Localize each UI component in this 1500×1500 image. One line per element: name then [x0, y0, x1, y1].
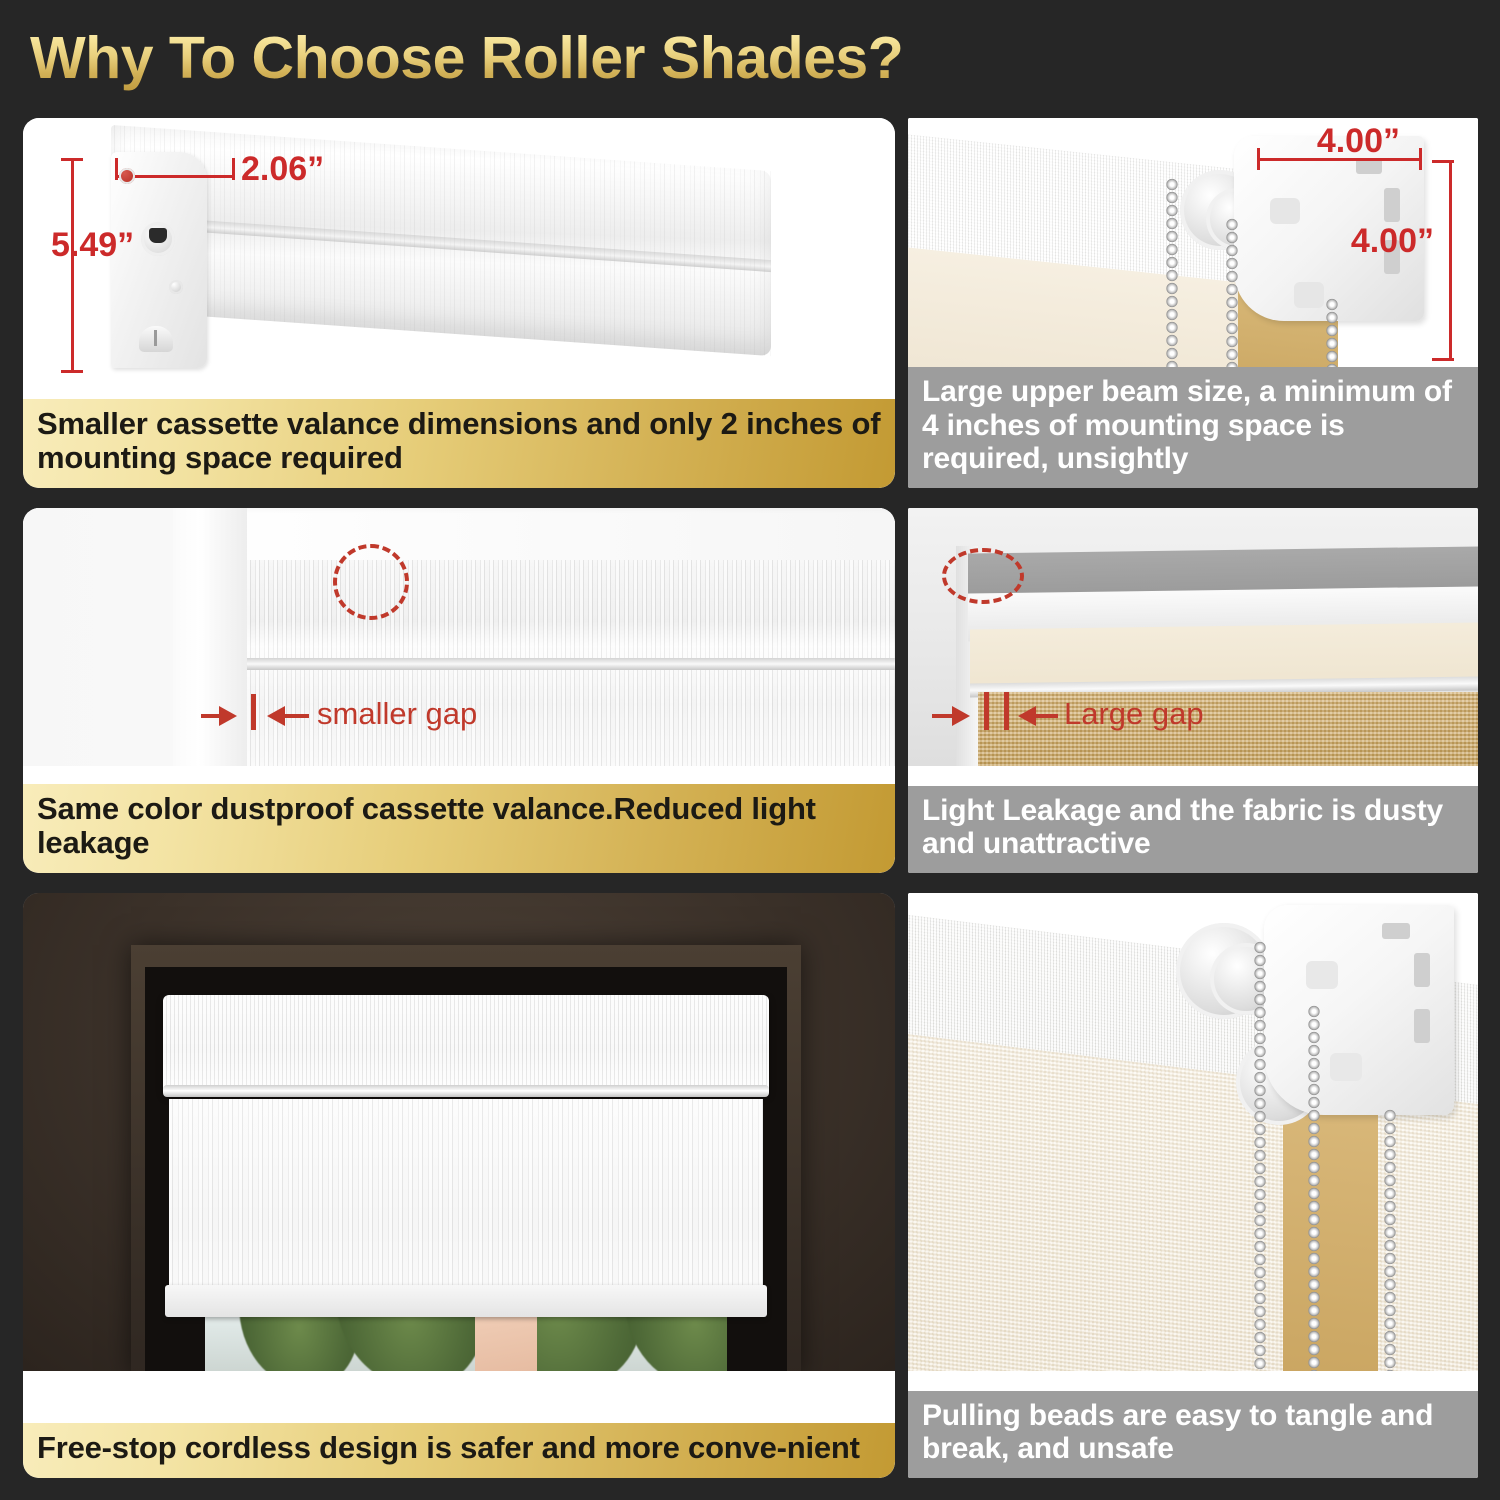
panel-1-artwork: 2.06” — [23, 118, 895, 388]
page-title: Why To Choose Roller Shades? — [30, 24, 903, 92]
gap-marker-bar-2 — [1004, 692, 1009, 730]
cassette-head-box — [163, 995, 769, 1095]
panel-2-caption: Large upper beam size, a minimum of 4 in… — [908, 367, 1478, 488]
mounting-bracket — [1264, 905, 1454, 1115]
shade-fabric-drop — [169, 1099, 763, 1309]
bracket-emboss-1 — [1270, 198, 1300, 224]
gap-arrow-left-icon — [267, 706, 285, 726]
bracket-emboss-1 — [1306, 961, 1338, 989]
width-dim-tick-right — [232, 158, 235, 180]
bracket-slot-2 — [1414, 953, 1430, 987]
panel-4-artwork: Large gap — [908, 508, 1478, 766]
gap-arrow-tail-right — [1036, 714, 1058, 718]
panel-3-artwork: smaller gap — [23, 508, 895, 766]
highlight-circle-icon — [942, 548, 1024, 604]
beam-height-tick-bottom — [1432, 358, 1454, 361]
panel-6-artwork — [908, 893, 1478, 1371]
annotation-large-gap: Large gap — [1064, 696, 1204, 732]
cap-knob-icon — [139, 326, 173, 352]
cassette-texture — [111, 125, 771, 356]
bracket-emboss-2 — [1294, 282, 1324, 308]
bracket-slot-3 — [1414, 1009, 1430, 1043]
panel-4-caption: Light Leakage and the fabric is dusty an… — [908, 786, 1478, 873]
annotation-smaller-gap: smaller gap — [317, 696, 477, 732]
width-dim-dot — [119, 168, 135, 184]
width-dim-tick-left — [115, 158, 118, 180]
height-dim-tick-top — [61, 158, 83, 161]
cassette-valance-body — [111, 125, 771, 356]
panel-large-beam-dimensions: 4.00” 4.00” Large upper beam size, a min… — [908, 118, 1478, 488]
cap-screw-icon — [169, 280, 183, 294]
tan-backing-fabric — [1283, 1087, 1378, 1371]
panel-large-gap: Large gap Light Leakage and the fabric i… — [908, 508, 1478, 873]
bead-chain-3 — [1384, 1109, 1396, 1371]
bracket-slot-2 — [1384, 188, 1400, 222]
bead-chain-left — [1166, 178, 1178, 398]
beam-width-tick-right — [1419, 148, 1422, 170]
annotation-width-2-06: 2.06” — [241, 150, 324, 189]
gap-arrow-tail-left — [201, 714, 223, 718]
bead-chain-2 — [1308, 1005, 1320, 1371]
annotation-height-5-49: 5.49” — [51, 226, 134, 265]
panel-pulling-beads: Pulling beads are easy to tangle and bre… — [908, 893, 1478, 1478]
cassette-mid-rail — [247, 658, 895, 670]
highlight-circle-icon — [333, 544, 409, 620]
beam-height-tick-top — [1432, 160, 1454, 163]
panel-6-caption: Pulling beads are easy to tangle and bre… — [908, 1391, 1478, 1478]
window-frame-inner-edge — [173, 508, 247, 766]
cassette-head-rail — [163, 1085, 769, 1097]
cap-dial-icon — [141, 222, 175, 256]
window-opening — [145, 967, 787, 1371]
gap-marker-bar — [251, 694, 256, 730]
panel-5-artwork — [23, 893, 895, 1371]
bead-chain-1 — [1254, 941, 1266, 1371]
height-dim-tick-bottom — [61, 370, 83, 373]
panel-3-caption: Same color dustproof cassette valance.Re… — [23, 784, 895, 873]
shade-bottom-bar — [165, 1285, 767, 1317]
beam-width-tick-left — [1257, 148, 1260, 170]
gap-arrow-tail-right — [285, 714, 309, 718]
dusty-tan-fabric — [978, 692, 1478, 766]
panel-5-caption: Free-stop cordless design is safer and m… — [23, 1423, 895, 1478]
gap-arrow-tail-left — [932, 714, 956, 718]
annotation-beam-width-4-00: 4.00” — [1317, 122, 1400, 161]
panel-cassette-dimensions: 2.06” 5.49” Smaller cassette valance dim… — [23, 118, 895, 488]
height-dim-line — [71, 158, 74, 373]
gap-marker-bar-1 — [984, 692, 989, 730]
annotation-beam-height-4-00: 4.00” — [1351, 222, 1434, 261]
beam-height-dim-line — [1449, 160, 1452, 360]
bracket-emboss-2 — [1330, 1053, 1362, 1081]
window-frame — [131, 945, 801, 1371]
gap-arrow-left-icon — [1018, 706, 1036, 726]
panel-cordless-window-scene: Free-stop cordless design is safer and m… — [23, 893, 895, 1478]
panel-1-caption: Smaller cassette valance dimensions and … — [23, 399, 895, 488]
bracket-slot-1 — [1382, 923, 1410, 939]
panel-2-artwork: 4.00” 4.00” — [908, 118, 1478, 398]
panel-smaller-gap: smaller gap Same color dustproof cassett… — [23, 508, 895, 873]
